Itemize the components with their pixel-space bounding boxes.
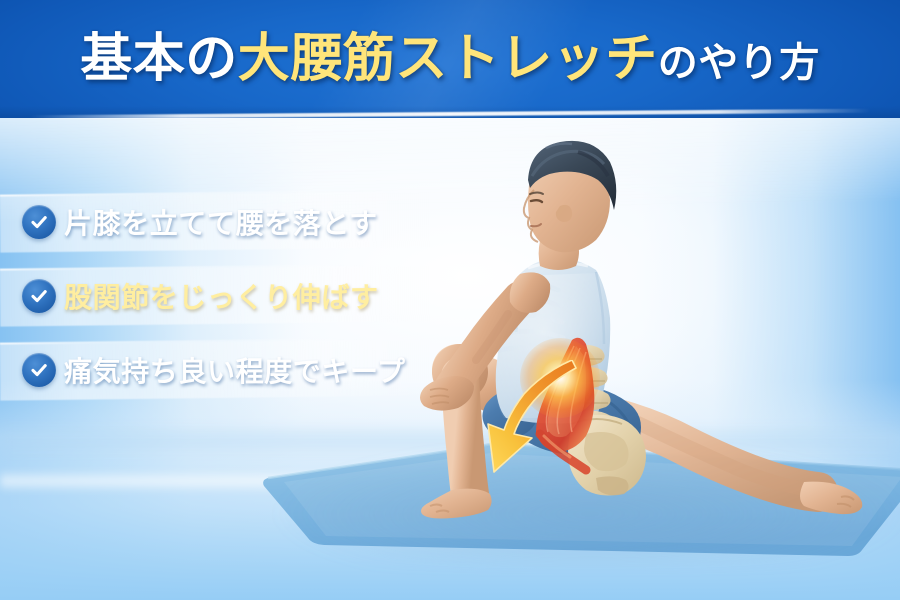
title-part-prefix: 基本の <box>80 33 238 85</box>
checklist-item-3[interactable]: 痛気持ち良い程度でキープ <box>0 338 470 402</box>
checklist-item-label: 痛気持ち良い程度でキープ <box>64 350 406 390</box>
checklist-item-label: 片膝を立てて腰を落とす <box>64 202 378 242</box>
stretch-illustration <box>400 118 900 538</box>
check-circle-icon <box>22 353 56 387</box>
person-figure <box>400 118 900 538</box>
checklist-item-label: 股関節をじっくり伸ばす <box>64 276 379 316</box>
checklist: 片膝を立てて腰を落とす 股関節をじっくり伸ばす 痛気持ち良い程度でキープ <box>0 190 470 412</box>
title-part-highlight: 大腰筋ストレッチ <box>238 33 658 85</box>
check-circle-icon <box>22 205 56 239</box>
poster-canvas: 基本の大腰筋ストレッチのやり方 片膝を立てて腰を落とす 股関節をじっくり伸ばす <box>0 0 900 600</box>
check-circle-icon <box>22 279 56 313</box>
page-title: 基本の大腰筋ストレッチのやり方 <box>0 33 900 85</box>
checklist-item-1[interactable]: 片膝を立てて腰を落とす <box>0 190 470 254</box>
checklist-item-2[interactable]: 股関節をじっくり伸ばす <box>0 264 470 328</box>
title-part-suffix: のやり方 <box>658 43 820 83</box>
